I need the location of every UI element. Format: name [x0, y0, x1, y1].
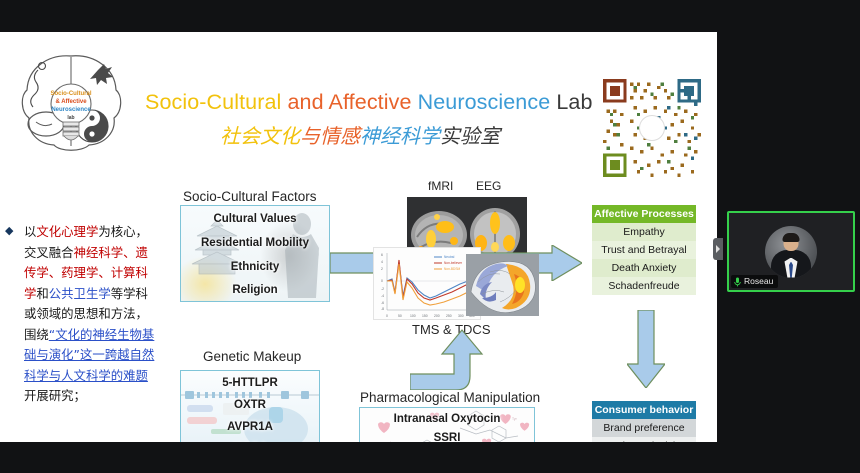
caption-socio-cultural-factors: Socio-Cultural Factors [183, 189, 317, 204]
shared-slide[interactable]: Socio-Cultural & Affective Neuroscience … [0, 32, 717, 442]
gene-item-1: OXTR [181, 399, 319, 411]
svg-text:Neutral: Neutral [444, 255, 455, 259]
avatar-hair [783, 233, 800, 242]
svg-text:lab: lab [67, 115, 74, 121]
svg-text:150: 150 [422, 314, 428, 318]
title-seg-lab: Lab [556, 90, 592, 114]
slide-title-chinese: 社会文化与情感神经科学实验室 [145, 120, 575, 149]
svg-text:Non-BDSM: Non-BDSM [444, 267, 460, 271]
svg-text:0: 0 [386, 314, 388, 318]
svg-text:2: 2 [381, 267, 383, 271]
socio-cultural-factors-box[interactable]: Cultural Values Residential Mobility Eth… [180, 205, 330, 302]
svg-text:-4: -4 [381, 294, 384, 298]
bullet-seg-1: 以 [24, 224, 36, 239]
microphone-icon [734, 277, 741, 287]
qr-code[interactable] [600, 79, 704, 177]
gene-item-0: 5-HTTLPR [181, 377, 319, 389]
caption-fmri: fMRI [428, 179, 453, 193]
avatar [765, 226, 817, 278]
svg-text:100: 100 [410, 314, 416, 318]
svg-text:250: 250 [446, 314, 452, 318]
arrow-down-to-consumer [627, 310, 665, 388]
svg-text:-6: -6 [381, 301, 384, 305]
svg-text:-2: -2 [381, 287, 384, 291]
svg-text:200: 200 [434, 314, 440, 318]
bullet-seg-2: 文化心理学 [36, 224, 98, 239]
title-zh-seg3: 神经科学 [360, 126, 440, 148]
affective-item-trust-and-betrayal[interactable]: Trust and Betrayal [592, 241, 696, 259]
erp-waveform-plot: 642 0-2-4 -6-8 050100 150200250 300400 N… [373, 247, 481, 320]
screen-root: Socio-Cultural & Affective Neuroscience … [0, 0, 860, 473]
genetic-makeup-box[interactable]: 5-HTTLPR OXTR AVPR1A MAOA [180, 370, 320, 442]
bullet-seg-6: 公共卫生学 [49, 286, 111, 301]
svg-text:Neuroscience: Neuroscience [51, 107, 91, 113]
bullet-seg-9: 开展研究； [24, 388, 86, 403]
affective-item-empathy[interactable]: Empathy [592, 223, 696, 241]
svg-text:6: 6 [381, 253, 383, 257]
slide-title-english: Socio-Cultural and Affective Neuroscienc… [145, 90, 575, 115]
gene-item-2: AVPR1A [181, 421, 319, 433]
pharma-item-0: Intranasal Oxytocin [360, 413, 534, 425]
affective-item-schadenfreude[interactable]: Schadenfreude [592, 277, 696, 295]
consumer-item-purchase-decision-making[interactable]: Purchase decision making [592, 437, 696, 442]
affective-item-death-anxiety[interactable]: Death Anxiety [592, 259, 696, 277]
svg-text:0: 0 [381, 279, 383, 283]
socio-item-0: Cultural Values [181, 213, 329, 225]
svg-text:4: 4 [381, 260, 383, 264]
cortical-surface-image [466, 254, 539, 316]
consumer-item-brand-preference[interactable]: Brand preference [592, 419, 696, 437]
svg-text:50: 50 [398, 314, 402, 318]
affective-processes-panel[interactable]: Affective Processes Empathy Trust and Be… [592, 205, 696, 295]
caption-genetic-makeup: Genetic Makeup [203, 349, 301, 364]
consumer-behavior-header: Consumer behavior [592, 401, 696, 419]
qr-center-logo [639, 115, 665, 141]
socio-item-3: Religion [181, 284, 329, 296]
participant-name: Roseau [744, 275, 773, 288]
pharmacological-manipulation-box[interactable]: TyrGln LeuGly ProAsn Intranasal Oxytocin… [359, 407, 535, 442]
svg-text:-8: -8 [381, 307, 384, 311]
title-seg-and-affective: and Affective [288, 90, 418, 114]
title-seg-socio-cultural: Socio-Cultural [145, 90, 288, 114]
bullet-seg-5: 和 [36, 286, 48, 301]
title-zh-seg2: 与情感 [300, 126, 360, 148]
panel-collapse-handle[interactable] [713, 238, 723, 260]
participant-name-plate: Roseau [731, 275, 778, 288]
title-seg-neuroscience: Neuroscience [418, 90, 557, 114]
socio-item-1: Residential Mobility [181, 237, 329, 249]
title-zh-seg4: 实验室 [440, 126, 500, 148]
pharma-item-1: SSRI [360, 432, 534, 442]
intro-paragraph: 以文化心理学为核心，交叉融合神经科学、遗传学、药理学、计算科学和公共卫生学等学科… [5, 222, 157, 407]
svg-text:& Affective: & Affective [55, 99, 87, 105]
lab-logo: Socio-Cultural & Affective Neuroscience … [14, 48, 129, 166]
title-zh-seg1: 社会文化 [220, 126, 300, 148]
svg-text:Non-believer: Non-believer [444, 261, 463, 265]
caption-eeg: EEG [476, 179, 501, 193]
arrow-bent-up [410, 328, 496, 390]
consumer-behavior-panel[interactable]: Consumer behavior Brand preference Purch… [592, 401, 696, 442]
caption-pharmacological: Pharmacological Manipulation [360, 390, 540, 405]
affective-processes-header: Affective Processes [592, 205, 696, 223]
socio-item-2: Ethnicity [181, 261, 329, 273]
participant-video-tile[interactable]: Roseau [727, 211, 855, 292]
svg-text:300: 300 [458, 314, 464, 318]
svg-text:Socio-Cultural: Socio-Cultural [50, 91, 91, 97]
